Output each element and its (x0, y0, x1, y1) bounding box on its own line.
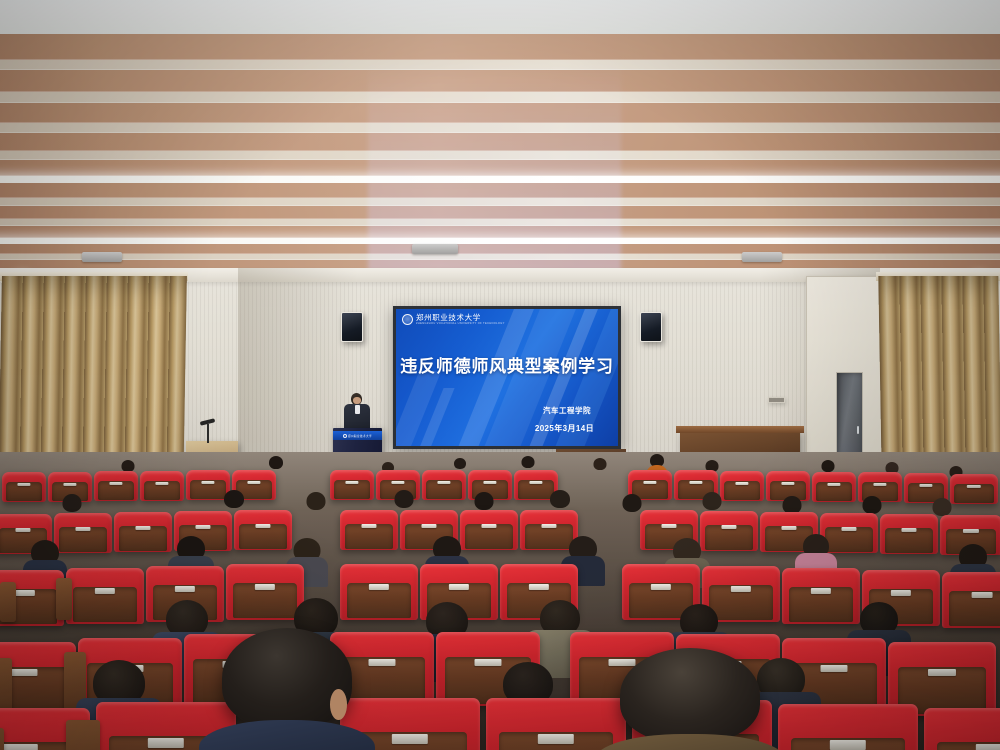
auditorium-seating (0, 452, 1000, 750)
seat-number-plate (155, 482, 168, 485)
seat-number-plate (10, 669, 37, 676)
projector-light-beam (368, 60, 621, 290)
seat-number-plate (661, 524, 676, 528)
seat-number-plate (17, 483, 30, 486)
seat-number-plate (972, 592, 993, 598)
seat-number-plate (873, 483, 886, 486)
audience-member (28, 540, 62, 574)
seat-number-plate (15, 590, 35, 596)
university-logo: 郑州职业技术大学 ZHENGZHOU VOCATIONAL UNIVERSITY… (402, 314, 505, 326)
seat-number-plate (255, 584, 275, 590)
seat[interactable] (720, 471, 764, 501)
shoulders (199, 720, 376, 750)
seat-number-plate (135, 526, 150, 530)
seat-number-plate (811, 588, 831, 594)
seat[interactable] (942, 572, 1000, 628)
auditorium-photo: 郑州职业技术大学 ZHENGZHOU VOCATIONAL UNIVERSITY… (0, 0, 1000, 750)
seat-number-plate (735, 482, 748, 485)
podium-banner: 郑州职业技术大学 (333, 431, 382, 440)
seat-number-plate (781, 526, 796, 530)
seat[interactable] (234, 510, 292, 550)
seat[interactable] (330, 470, 374, 500)
ceiling-vent (412, 244, 458, 254)
podium-seal-icon (343, 434, 347, 438)
seat-number-plate (901, 528, 916, 532)
seat-number-plate (721, 525, 736, 529)
audience-head (623, 494, 642, 512)
ear (330, 689, 347, 720)
audience-head (550, 490, 570, 508)
seat-number-plate (963, 529, 979, 533)
seat-number-plate (449, 584, 469, 590)
podium-banner-text: 郑州职业技术大学 (348, 434, 372, 438)
armrest (0, 658, 12, 714)
seat-number-plate (391, 481, 404, 484)
seat-number-plate (421, 524, 436, 528)
audience-head (63, 494, 82, 512)
audience-member (174, 536, 208, 570)
university-name-en: ZHENGZHOU VOCATIONAL UNIVERSITY OF TECHN… (416, 322, 505, 326)
seat-number-plate (841, 527, 856, 531)
seat-number-plate (361, 524, 376, 528)
seat-number-plate (109, 482, 122, 485)
seat[interactable] (950, 474, 998, 504)
presenter-face (353, 397, 361, 404)
audience-head (307, 492, 326, 510)
slide-title: 违反师德师风典型案例学习 (396, 352, 618, 377)
audience-head (269, 456, 283, 469)
seat[interactable] (140, 471, 184, 501)
seat[interactable] (54, 513, 112, 553)
seat-number-plate (75, 527, 90, 531)
door-handle[interactable] (857, 426, 859, 434)
presenter-shirt (355, 405, 360, 414)
seat[interactable] (880, 514, 938, 554)
seat-number-plate (368, 659, 395, 666)
ceiling-top-soffit (0, 0, 1000, 34)
wall-speaker-right (640, 312, 662, 342)
audience-head (933, 498, 952, 516)
seat-number-plate (830, 740, 866, 750)
seat-number-plate (651, 584, 671, 590)
seat[interactable] (812, 472, 856, 502)
seat-number-plate (369, 584, 389, 590)
armrest (0, 728, 4, 750)
seat-number-plate (827, 483, 840, 486)
audience-head (475, 492, 494, 510)
head (620, 648, 760, 742)
seat-number-plate (15, 528, 30, 532)
armrest (66, 720, 100, 750)
audience-head (522, 456, 535, 468)
seat-number-plate (731, 586, 751, 592)
armrest (0, 582, 16, 622)
seat-number-plate (976, 744, 1000, 750)
seat-number-plate (967, 485, 981, 488)
shoulders (595, 734, 785, 750)
seat-number-plate (175, 586, 195, 592)
seat-number-plate (95, 588, 115, 594)
seat[interactable] (700, 511, 758, 551)
university-seal-icon (402, 314, 413, 325)
seat-number-plate (255, 524, 270, 528)
seat-number-plate (195, 525, 210, 529)
seat[interactable] (460, 510, 518, 550)
presenter-at-podium (344, 393, 370, 433)
seat[interactable] (114, 512, 172, 552)
audience-member (592, 458, 608, 474)
ceiling-slat (0, 34, 1000, 60)
seat[interactable] (2, 472, 46, 502)
seat-number-plate (538, 734, 574, 744)
seat-number-plate (529, 584, 549, 590)
seat[interactable] (778, 704, 918, 750)
audience-head (822, 460, 835, 472)
audience-head (395, 490, 414, 508)
audience-head (594, 458, 607, 470)
seat-number-plate (437, 481, 450, 484)
seat-number-plate (820, 665, 847, 672)
seat-number-plate (919, 484, 932, 487)
foreground-audience-member (620, 648, 760, 750)
seat-number-plate (643, 481, 656, 484)
seat-number-plate (63, 483, 76, 486)
foreground-audience-member (222, 628, 352, 750)
audience-head (703, 492, 722, 510)
seat-number-plate (345, 481, 358, 484)
seat[interactable] (340, 564, 418, 620)
wood-slat-ceiling (0, 0, 1000, 290)
projection-screen[interactable]: 郑州职业技术大学 ZHENGZHOU VOCATIONAL UNIVERSITY… (393, 306, 621, 449)
seat-number-plate (201, 481, 214, 484)
seat[interactable] (422, 470, 466, 500)
microphone-stand (207, 424, 209, 443)
seat[interactable] (340, 510, 398, 550)
slide-surface: 郑州职业技术大学 ZHENGZHOU VOCATIONAL UNIVERSITY… (396, 309, 618, 446)
ceiling-vent (742, 252, 782, 262)
audience-member (304, 492, 328, 516)
seat-number-plate (529, 481, 542, 484)
wall-outlet (768, 397, 785, 403)
seat[interactable] (66, 568, 144, 624)
seat-number-plate (781, 482, 794, 485)
curtain-right (878, 276, 1000, 476)
seat-number-plate (541, 524, 556, 528)
slide-subtitle: 汽车工程学院 (543, 405, 591, 416)
seat-number-plate (928, 669, 956, 676)
seat-number-plate (481, 524, 496, 528)
audience-head (454, 458, 466, 469)
wall-speaker-left (341, 312, 363, 342)
audience-head (224, 490, 244, 508)
seat-number-plate (148, 738, 184, 748)
armrest (56, 578, 72, 620)
seat-number-plate (247, 481, 260, 484)
seat-number-plate (2, 744, 38, 750)
audience-head (863, 496, 882, 514)
seat-number-plate (689, 481, 702, 484)
seat[interactable] (782, 568, 860, 624)
university-name-cn: 郑州职业技术大学 (416, 314, 505, 322)
ceiling-vent (82, 252, 122, 262)
seat[interactable] (486, 698, 626, 750)
seat[interactable] (94, 471, 138, 501)
seat-number-plate (891, 590, 911, 596)
seat-number-plate (483, 481, 496, 484)
desk-top (676, 426, 804, 433)
seat[interactable] (924, 708, 1000, 750)
seat-number-plate (392, 734, 428, 744)
audience-member (800, 534, 832, 566)
slide-date: 2025年3月14日 (535, 423, 594, 434)
